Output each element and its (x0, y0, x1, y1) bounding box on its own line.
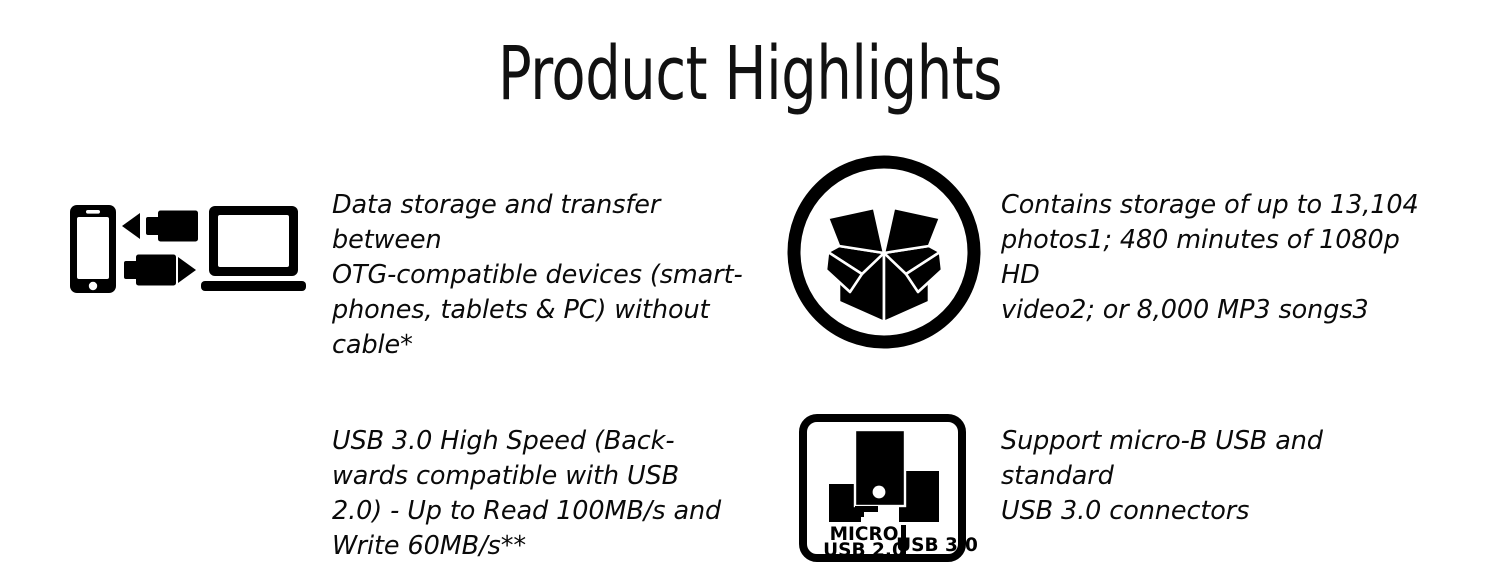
laptop-icon (201, 206, 306, 291)
product-highlights-page: Product Highlights (0, 0, 1500, 588)
badge-usb30-label: USB 3.0 (896, 535, 978, 556)
feature-capacity-line-1: Contains storage of up to 13,104 (1001, 188, 1441, 223)
feature-otg-line-2: OTG-compatible devices (smart- (332, 258, 762, 293)
feature-connectors-text: Support micro-B USB and standard USB 3.0… (1001, 424, 1441, 529)
feature-usb-speed-line-4: Write 60MB/s** (332, 529, 732, 564)
feature-otg-line-1: Data storage and transfer between (332, 188, 762, 258)
open-cardboard-box-icon (826, 208, 942, 322)
dual-usb-connector-badge-icon: MICRO USB 2.0 USB 3.0 (798, 413, 967, 563)
feature-otg-line-4: cable* (332, 328, 762, 363)
feature-capacity-text: Contains storage of up to 13,104 photos1… (1001, 188, 1441, 328)
feature-capacity-line-2: photos1; 480 minutes of 1080p HD (1001, 223, 1441, 293)
feature-usb-speed-line-1: USB 3.0 High Speed (Back- (332, 424, 732, 459)
smartphone-icon (70, 205, 116, 293)
badge-usb20-label: USB 2.0 (823, 540, 905, 561)
feature-otg-text: Data storage and transfer between OTG-co… (332, 188, 762, 363)
feature-connectors-line-2: USB 3.0 connectors (1001, 494, 1441, 529)
feature-usb-speed-line-2: wards compatible with USB (332, 459, 732, 494)
usb-connector-left-arrow-icon (122, 211, 198, 242)
usb-connector-right-arrow-icon (124, 255, 196, 286)
page-title: Product Highlights (120, 36, 1380, 114)
open-box-in-circle-icon (784, 152, 984, 352)
otg-phone-laptop-transfer-icon (68, 203, 308, 298)
feature-usb-speed-line-3: 2.0) - Up to Read 100MB/s and (332, 494, 732, 529)
feature-connectors-line-1: Support micro-B USB and standard (1001, 424, 1441, 494)
feature-usb-speed-text: USB 3.0 High Speed (Back- wards compatib… (332, 424, 732, 564)
feature-otg-line-3: phones, tablets & PC) without (332, 293, 762, 328)
feature-capacity-line-3: video2; or 8,000 MP3 songs3 (1001, 293, 1441, 328)
